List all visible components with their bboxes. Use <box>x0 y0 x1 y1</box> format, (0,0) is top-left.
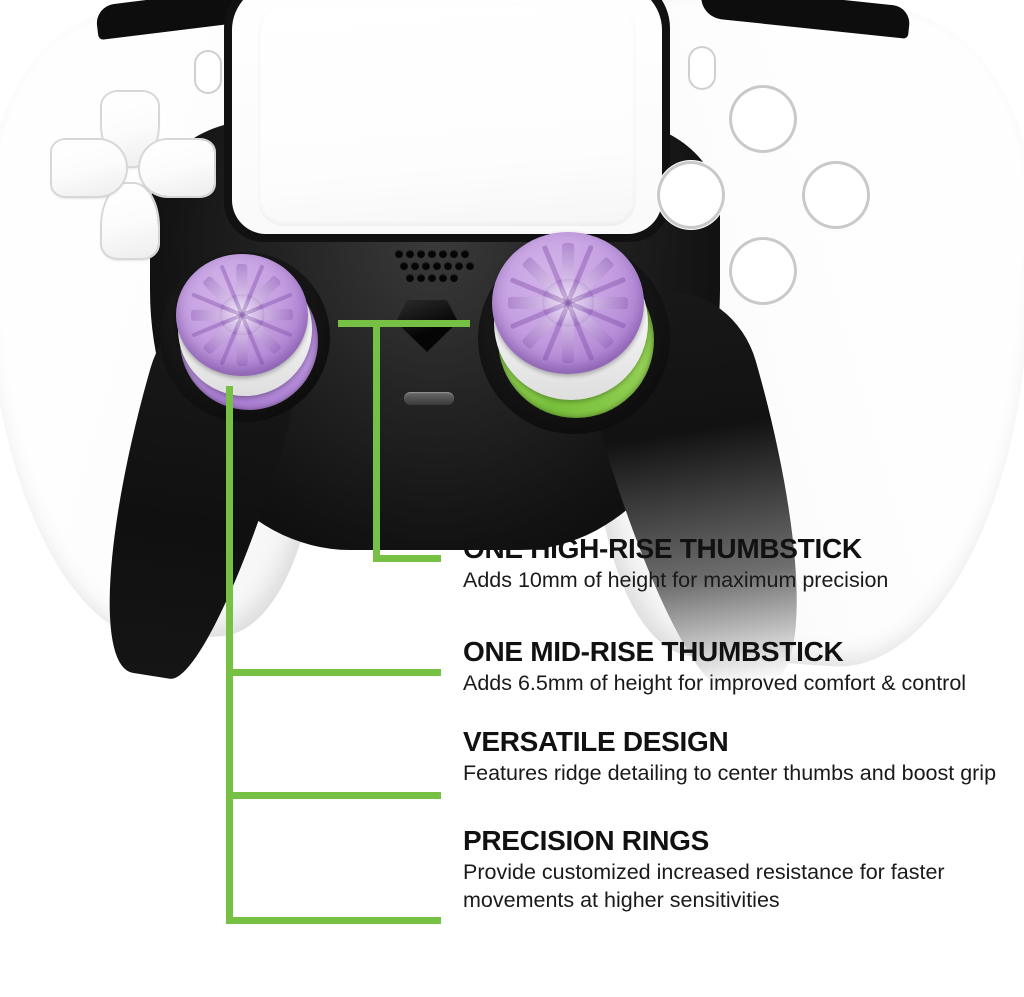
speaker-hole <box>417 250 425 258</box>
face-button-cluster <box>660 88 875 308</box>
dpad-right-button <box>140 140 214 196</box>
feature-item-precision-rings: PRECISION RINGS Provide customized incre… <box>463 826 1024 915</box>
speaker-hole <box>428 250 436 258</box>
speaker-hole <box>406 274 414 282</box>
speaker-hole <box>450 274 458 282</box>
speaker-hole <box>444 262 452 270</box>
mute-microphone-button <box>404 392 454 405</box>
feature-title: ONE MID-RISE THUMBSTICK <box>463 637 1024 668</box>
speaker-hole <box>428 274 436 282</box>
feature-description: Adds 6.5mm of height for improved comfor… <box>463 670 1024 698</box>
speaker-grille <box>395 250 467 284</box>
feature-item-versatile-design: VERSATILE DESIGN Features ridge detailin… <box>463 727 1024 788</box>
speaker-hole <box>461 250 469 258</box>
speaker-hole <box>422 262 430 270</box>
speaker-hole <box>455 262 463 270</box>
square-button <box>660 164 722 226</box>
left-thumbstick-grip-cap <box>176 254 308 376</box>
feature-description: Adds 10mm of height for maximum precisio… <box>463 567 1024 595</box>
dpad <box>52 92 212 257</box>
feature-title: VERSATILE DESIGN <box>463 727 1024 758</box>
speaker-hole <box>433 262 441 270</box>
dpad-left-button <box>52 140 126 196</box>
speaker-hole <box>400 262 408 270</box>
right-thumbstick-grip-cap <box>492 232 644 374</box>
feature-item-high-rise-thumbstick: ONE HIGH-RISE THUMBSTICK Adds 10mm of he… <box>463 534 1024 595</box>
speaker-hole <box>395 250 403 258</box>
feature-title: PRECISION RINGS <box>463 826 1024 857</box>
speaker-hole <box>450 250 458 258</box>
callout-line-3 <box>226 792 441 799</box>
feature-description: Features ridge detailing to center thumb… <box>463 760 1024 788</box>
cross-button <box>732 240 794 302</box>
feature-list: ONE HIGH-RISE THUMBSTICK Adds 10mm of he… <box>463 534 1024 915</box>
speaker-hole <box>411 262 419 270</box>
triangle-button <box>732 88 794 150</box>
speaker-hole <box>466 262 474 270</box>
feature-title: ONE HIGH-RISE THUMBSTICK <box>463 534 1024 565</box>
speaker-hole <box>417 274 425 282</box>
circle-button <box>805 164 867 226</box>
create-button <box>196 52 220 92</box>
product-infographic: ONE HIGH-RISE THUMBSTICK Adds 10mm of he… <box>0 0 1024 997</box>
feature-item-mid-rise-thumbstick: ONE MID-RISE THUMBSTICK Adds 6.5mm of he… <box>463 637 1024 698</box>
touchpad <box>258 4 636 226</box>
speaker-hole <box>406 250 414 258</box>
options-button <box>690 48 714 88</box>
feature-description: Provide customized increased resistance … <box>463 859 1024 915</box>
callout-line-4 <box>226 917 441 924</box>
dpad-down-button <box>102 184 158 258</box>
speaker-hole <box>439 250 447 258</box>
speaker-hole <box>439 274 447 282</box>
